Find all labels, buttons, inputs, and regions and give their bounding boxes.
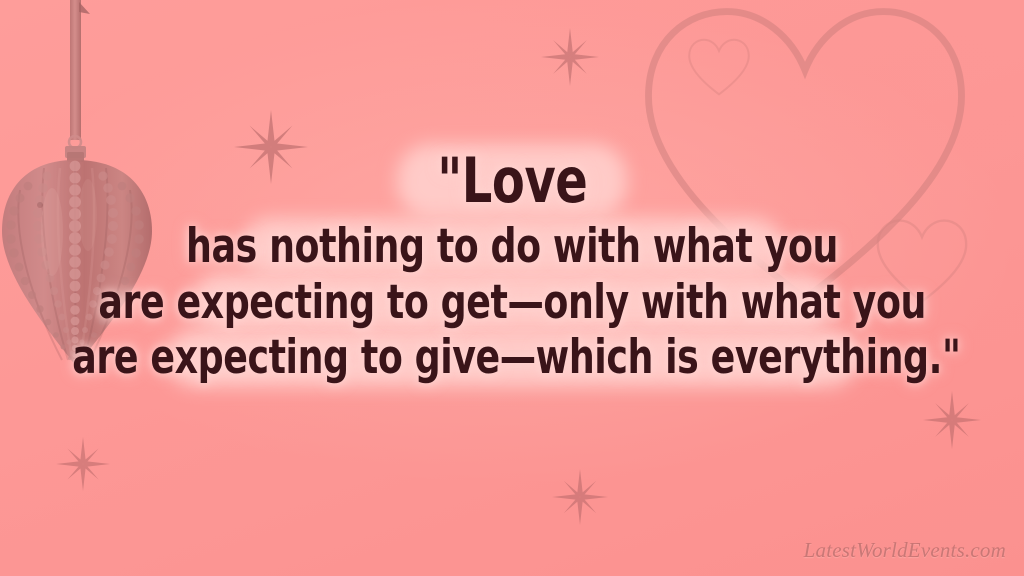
small-heart-outline (688, 38, 750, 96)
watermark: LatestWorldEvents.com (804, 538, 1006, 563)
sparkle-star (923, 391, 981, 449)
hanging-teardrop-ornament (0, 0, 180, 385)
medium-heart-outline (876, 218, 968, 304)
sparkle-star (234, 110, 308, 184)
sparkle-star (56, 437, 110, 491)
sparkle-star (552, 469, 608, 525)
greeting-card-canvas: "Love has nothing to do with what you ar… (0, 0, 1024, 576)
sparkle-star (541, 28, 599, 86)
